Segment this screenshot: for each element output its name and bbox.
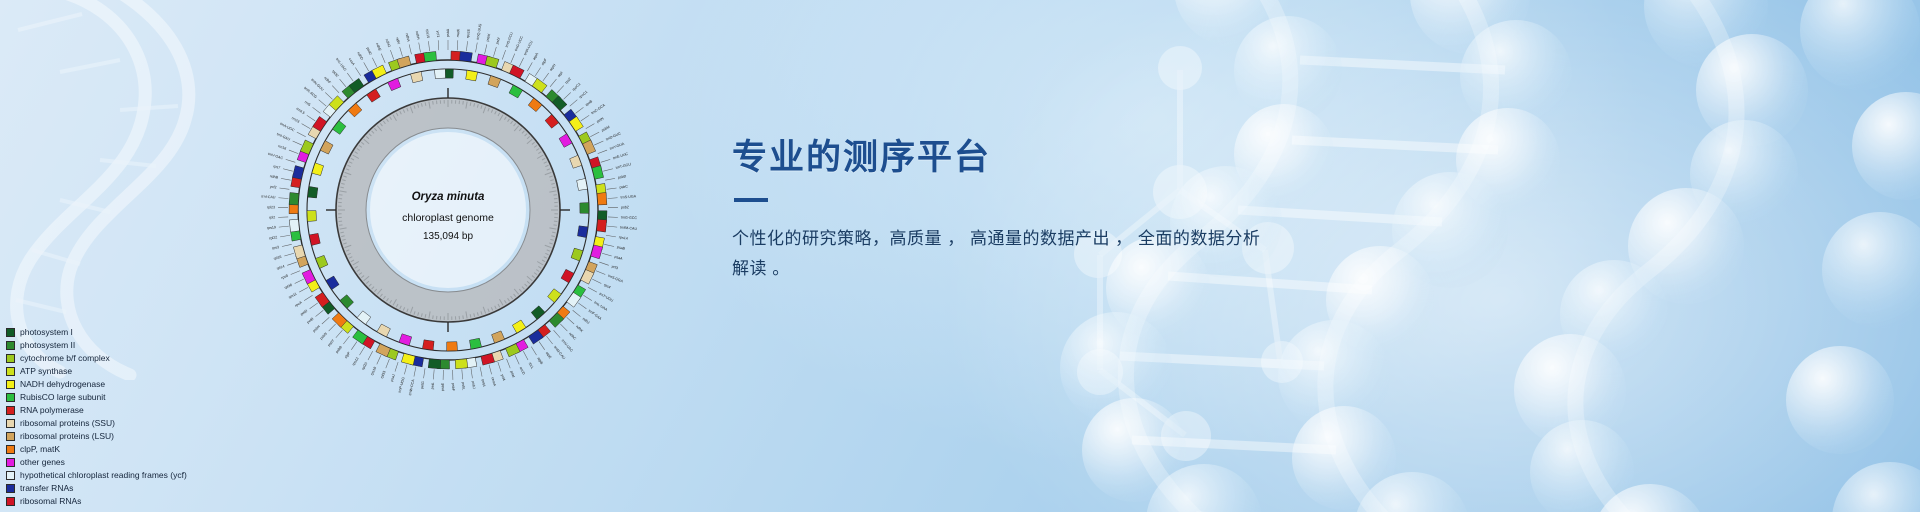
- legend-item-label: other genes: [20, 456, 65, 469]
- gene-label: trnS-GCU: [505, 31, 514, 48]
- gene-label: trnE-UUC: [613, 152, 629, 161]
- gene-box: [597, 219, 607, 232]
- legend-item: NADH dehydrogenase: [6, 378, 187, 391]
- legend-item-label: RNA polymerase: [20, 404, 84, 417]
- gene-label: trnS-UGA: [620, 194, 636, 199]
- gene-label: ndhJ: [582, 317, 591, 325]
- gene-label: rpoA: [294, 300, 303, 308]
- gene-box: [422, 340, 434, 350]
- gene-label: rps3: [272, 245, 280, 250]
- gene-label: rpl16: [273, 255, 282, 261]
- gene-label: matK: [456, 28, 461, 37]
- title-underline-rule: [734, 198, 768, 202]
- gene-label: rpl14: [276, 264, 285, 270]
- gene-box: [455, 359, 468, 369]
- gene-label: trnC-GCA: [591, 103, 607, 115]
- gene-box: [397, 56, 411, 68]
- gene-label: psbI: [495, 37, 501, 45]
- gene-box: [488, 76, 501, 88]
- legend-color-swatch: [6, 354, 15, 363]
- gene-label: psbZ: [621, 205, 630, 209]
- gene-label: rrn23: [291, 116, 300, 124]
- gene-label: trnN-GUU: [310, 78, 325, 92]
- gene-label: psbN: [319, 331, 328, 340]
- gene-label: psbC: [619, 184, 628, 189]
- legend-item-label: transfer RNAs: [20, 482, 73, 495]
- gene-label: psbF: [451, 383, 455, 392]
- gene-label: ndhD: [356, 51, 364, 61]
- legend-item-label: cytochrome b/f complex: [20, 352, 110, 365]
- gene-label: psaC: [366, 47, 373, 57]
- gene-label: cemA: [490, 377, 496, 387]
- gene-label: rps18: [370, 366, 377, 376]
- gene-label: trnY-GUA: [609, 142, 625, 151]
- gene-label: trnD-GUC: [605, 131, 622, 141]
- page-subtitle: 个性化的研究策略，高质量 ， 高通量的数据产出 ， 全面的数据分析解读 。: [732, 224, 1262, 284]
- gene-label: psaJ: [390, 374, 396, 383]
- gene-label: trnV-UAC: [561, 339, 574, 353]
- gene-label: ycf4: [500, 374, 506, 382]
- gene-label: psbT: [327, 338, 336, 347]
- gene-box: [308, 186, 318, 198]
- gene-label: petD: [300, 309, 309, 317]
- gene-box: [388, 78, 401, 90]
- gene-label: psbM: [601, 125, 611, 133]
- gene-box: [377, 324, 390, 337]
- gene-label: atpH: [549, 63, 557, 72]
- gene-box: [528, 98, 542, 112]
- gene-label: trnF-GAA: [588, 309, 603, 321]
- gene-box: [340, 295, 354, 309]
- gene-label: rbcL: [528, 362, 535, 370]
- gene-box: [559, 134, 572, 148]
- gene-label: atpA: [532, 52, 539, 61]
- gene-label: rpoB: [585, 99, 594, 107]
- legend-item-label: photosystem I: [20, 326, 73, 339]
- gene-label: trnR-UCU: [523, 40, 534, 56]
- gene-label: ndhC: [568, 332, 577, 341]
- gene-label: trnS-GGA: [607, 274, 624, 284]
- legend-item: ribosomal proteins (SSU): [6, 417, 187, 430]
- legend-item: ATP synthase: [6, 365, 187, 378]
- gene-box: [469, 338, 481, 349]
- gene-label: trnG-GCC: [621, 215, 638, 220]
- gene-label: rpl22: [269, 235, 278, 240]
- legend-item: ribosomal RNAs: [6, 495, 187, 508]
- gene-label: psaI: [509, 370, 515, 378]
- gene-label: ndhA: [405, 33, 411, 43]
- gene-category-legend: photosystem Iphotosystem IIcytochrome b/…: [6, 326, 187, 508]
- gene-label: rpl23: [267, 205, 275, 209]
- gene-box: [289, 219, 299, 232]
- gene-box: [320, 141, 333, 154]
- legend-item-label: ribosomal proteins (LSU): [20, 430, 114, 443]
- genome-size: 135,094 bp: [423, 231, 473, 242]
- gene-label: atpE: [545, 351, 553, 360]
- legend-color-swatch: [6, 393, 15, 402]
- legend-item-label: hypothetical chloroplast reading frames …: [20, 469, 187, 482]
- copy-block: 专业的测序平台 个性化的研究策略，高质量 ， 高通量的数据产出 ， 全面的数据分…: [732, 138, 1352, 284]
- gene-box: [466, 70, 478, 81]
- legend-color-swatch: [6, 328, 15, 337]
- legend-item-label: ATP synthase: [20, 365, 72, 378]
- gene-box: [428, 359, 441, 369]
- legend-color-swatch: [6, 484, 15, 493]
- legend-item-label: NADH dehydrogenase: [20, 378, 105, 391]
- legend-item: cytochrome b/f complex: [6, 352, 187, 365]
- legend-item: photosystem II: [6, 339, 187, 352]
- legend-color-swatch: [6, 458, 15, 467]
- gene-box: [597, 192, 607, 204]
- gene-label: rpoC1: [578, 90, 588, 99]
- legend-item: RNA polymerase: [6, 404, 187, 417]
- legend-item-label: RubisCO large subunit: [20, 391, 106, 404]
- legend-color-swatch: [6, 341, 15, 350]
- gene-box: [326, 276, 339, 290]
- page-title: 专业的测序平台: [732, 138, 1352, 178]
- legend-color-swatch: [6, 497, 15, 506]
- gene-box: [316, 255, 328, 268]
- gene-label: psbB: [335, 345, 344, 354]
- gene-box: [312, 163, 324, 176]
- gene-label: ndhI: [395, 37, 401, 45]
- gene-label: psbD: [618, 174, 627, 180]
- gene-label: rpoC2: [572, 82, 582, 92]
- gene-box: [399, 334, 412, 346]
- gene-label: petG: [420, 381, 425, 389]
- gene-label: rps4: [603, 283, 611, 290]
- gene-label: trnP-UGG: [398, 376, 406, 393]
- gene-label: ndhK: [575, 324, 584, 333]
- legend-color-swatch: [6, 419, 15, 428]
- legend-color-swatch: [6, 406, 15, 415]
- gene-label: rps12: [351, 357, 359, 367]
- legend-item: clpP, matK: [6, 443, 187, 456]
- gene-label: ycf3: [611, 264, 619, 270]
- gene-label: ndhH: [415, 31, 420, 41]
- gene-label: psbE: [441, 382, 445, 391]
- gene-label: rpl32: [331, 69, 339, 78]
- gene-label: atpB: [536, 357, 544, 366]
- gene-box: [424, 51, 437, 61]
- legend-item: other genes: [6, 456, 187, 469]
- gene-box: [460, 51, 473, 61]
- gene-label: rps15: [425, 29, 430, 38]
- gene-label: rps2: [564, 77, 572, 85]
- legend-color-swatch: [6, 445, 15, 454]
- gene-label: trnfM-CAU: [620, 225, 638, 231]
- gene-label: ycf1: [436, 31, 440, 38]
- gene-box: [367, 89, 381, 102]
- gene-label: trnG-UCC: [514, 35, 524, 52]
- gene-label: ccsA: [348, 57, 356, 66]
- gene-box: [591, 245, 603, 259]
- gene-label: petA: [481, 379, 487, 388]
- gene-label: petL: [430, 382, 435, 389]
- gene-label: rps11: [288, 292, 298, 300]
- legend-color-swatch: [6, 432, 15, 441]
- gene-label: psbL: [461, 382, 466, 390]
- gene-box: [512, 320, 526, 333]
- gene-label: ndhB: [269, 174, 279, 180]
- gene-label: psbK: [486, 33, 492, 42]
- gene-label: trnA-UGC: [279, 122, 295, 133]
- gene-label: rpl2: [269, 215, 275, 219]
- legend-item-label: clpP, matK: [20, 443, 60, 456]
- gene-label: psbH: [312, 324, 321, 333]
- gene-label: rpl20: [361, 362, 368, 371]
- genome-species-name: Oryza minuta: [412, 191, 485, 203]
- gene-box: [492, 331, 505, 343]
- gene-label: rps14: [619, 235, 629, 240]
- gene-label: ycf2: [270, 185, 277, 190]
- legend-color-swatch: [6, 471, 15, 480]
- gene-box: [447, 342, 458, 351]
- gene-label: rps16: [466, 29, 471, 38]
- gene-box: [580, 203, 589, 214]
- legend-item-label: ribosomal RNAs: [20, 495, 81, 508]
- chloroplast-genome-map: psbAmatKrps16trnQ-UUGpsbKpsbItrnS-GCUtrn…: [248, 10, 648, 410]
- legend-color-swatch: [6, 367, 15, 376]
- gene-label: rps19: [267, 225, 276, 230]
- gene-label: rpl36: [284, 283, 293, 290]
- gene-label: ndhG: [385, 38, 392, 48]
- gene-label: atpF: [541, 57, 549, 66]
- gene-label: trnQ-UUG: [476, 23, 483, 40]
- legend-item-label: photosystem II: [20, 339, 75, 352]
- gene-label: ndhE: [375, 42, 382, 52]
- gene-label: trnI-GAU: [276, 132, 291, 142]
- gene-box: [570, 155, 582, 168]
- gene-label: trnL-UAA: [593, 300, 608, 312]
- gene-box: [357, 311, 371, 325]
- legend-item: ribosomal proteins (LSU): [6, 430, 187, 443]
- gene-label: petN: [596, 116, 605, 124]
- gene-label: trnI-CAU: [261, 195, 276, 200]
- gene-box: [571, 248, 583, 261]
- legend-color-swatch: [6, 380, 15, 389]
- gene-label: ndhF: [323, 76, 332, 85]
- gene-label: psaA: [614, 255, 624, 261]
- gene-box: [434, 69, 445, 79]
- gene-box: [348, 103, 362, 117]
- legend-item-label: ribosomal proteins (SSU): [20, 417, 115, 430]
- gene-label: trnT-UGU: [599, 292, 615, 303]
- sequencing-platform-banner: psbAmatKrps16trnQ-UUGpsbKpsbItrnS-GCUtrn…: [0, 0, 1920, 512]
- gene-label: accD: [519, 366, 526, 375]
- gene-label: psaB: [617, 245, 626, 251]
- gene-label: psbA: [446, 28, 450, 37]
- gene-label: trnM-CAU: [553, 345, 566, 360]
- gene-label: trnW-CCA: [408, 378, 415, 395]
- legend-item: RubisCO large subunit: [6, 391, 187, 404]
- gene-label: trnT-GGU: [615, 162, 631, 170]
- legend-item: transfer RNAs: [6, 482, 187, 495]
- gene-label: rps7: [273, 164, 281, 170]
- gene-box: [293, 245, 305, 259]
- gene-box: [577, 226, 588, 238]
- gene-label: clpP: [344, 351, 352, 360]
- gene-box: [332, 121, 345, 135]
- gene-label: psbJ: [471, 381, 476, 389]
- gene-label: rps8: [281, 274, 289, 280]
- gene-label: atpI: [557, 71, 564, 78]
- gene-label: rrn5: [304, 100, 312, 107]
- gene-box: [289, 192, 299, 204]
- legend-item: hypothetical chloroplast reading frames …: [6, 469, 187, 482]
- gene-label: trnR-ACG: [303, 86, 318, 99]
- gene-box: [577, 178, 588, 190]
- gene-label: trnL-UAG: [335, 57, 347, 72]
- gene-box: [545, 114, 559, 128]
- gene-box: [485, 56, 499, 68]
- gene-box: [531, 306, 545, 320]
- gene-label: rrn16: [278, 144, 287, 151]
- gene-box: [548, 289, 562, 303]
- gene-label: rpl33: [380, 370, 387, 379]
- gene-box: [561, 269, 574, 283]
- gene-box: [307, 211, 316, 222]
- gene-label: rrn4.5: [295, 107, 305, 116]
- gene-label: petB: [306, 316, 315, 324]
- legend-item: photosystem I: [6, 326, 187, 339]
- genome-subtitle: chloroplast genome: [402, 212, 494, 224]
- gene-box: [509, 85, 523, 98]
- gene-label: trnV-GAC: [268, 152, 284, 161]
